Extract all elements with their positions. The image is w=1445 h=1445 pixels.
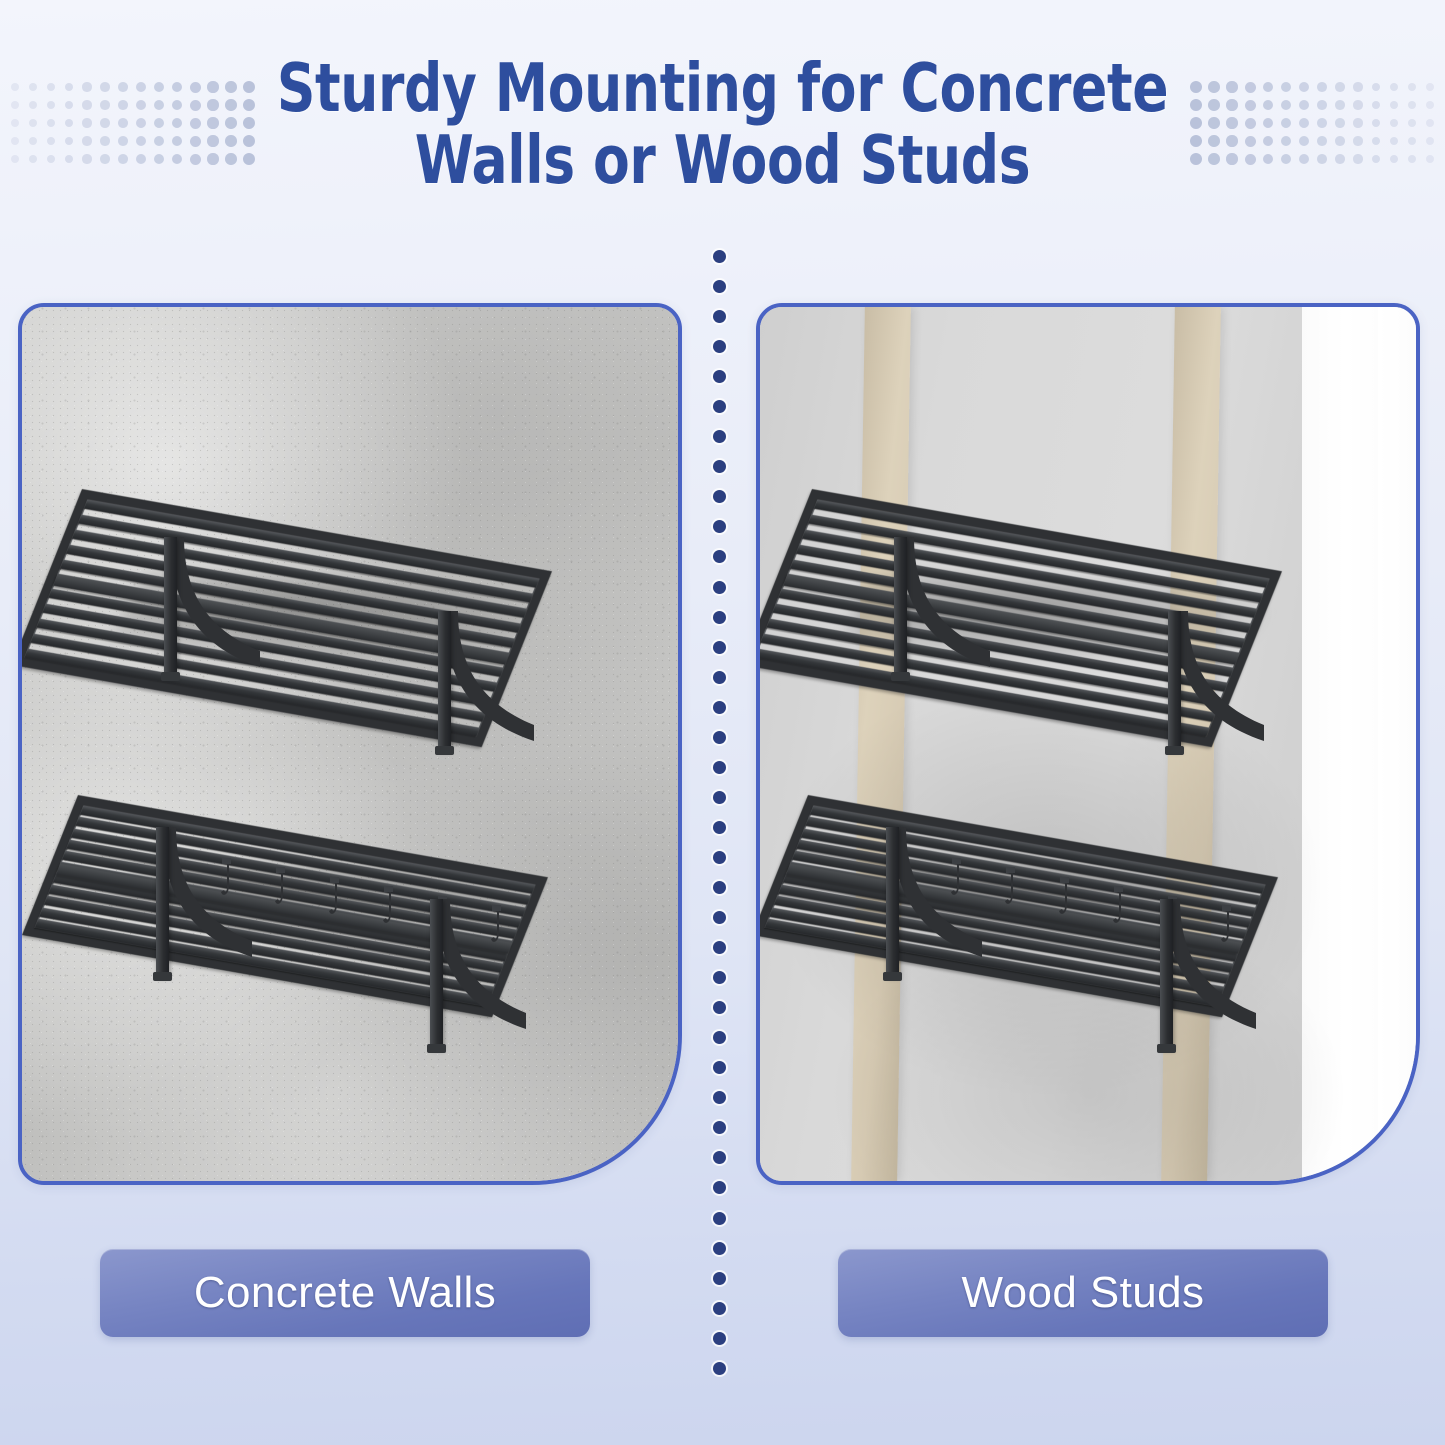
page-title: Sturdy Mounting for Concrete Walls or Wo…: [145, 52, 1301, 197]
divider-dot: [713, 400, 726, 413]
shelf-wall-leg-right: [1168, 611, 1181, 751]
divider-dot: [713, 1121, 726, 1134]
divider-dot: [713, 490, 726, 503]
shelf-wall-leg-right: [430, 899, 443, 1049]
divider-dot: [713, 731, 726, 744]
divider-dot: [713, 581, 726, 594]
divider-dot: [713, 1272, 726, 1285]
drywall-background: [760, 307, 1416, 1181]
divider-dot: [713, 430, 726, 443]
divider-dot: [713, 1332, 726, 1345]
divider-dot: [713, 761, 726, 774]
divider-dot: [713, 1181, 726, 1194]
divider-dot: [713, 941, 726, 954]
divider-dot: [713, 1091, 726, 1104]
divider-dot: [713, 701, 726, 714]
divider-dot: [713, 1362, 726, 1375]
divider-dot: [713, 310, 726, 323]
shelf-lower-studs: [808, 795, 1278, 935]
wood-stud-panel: [756, 303, 1420, 1185]
divider-dot: [713, 1212, 726, 1225]
divider-dot: [713, 1242, 726, 1255]
divider-dot: [713, 851, 726, 864]
concrete-wall-panel: [18, 303, 682, 1185]
shelf-wall-leg-right: [1160, 899, 1173, 1049]
shelf-hook: [1111, 886, 1125, 932]
divider-dot: [713, 550, 726, 563]
divider-dot: [713, 881, 726, 894]
shelf-upper-studs: [812, 489, 1282, 665]
caption-pill-wood-studs[interactable]: Wood Studs: [838, 1249, 1328, 1337]
shelf-hook: [1003, 867, 1017, 913]
vertical-dotted-divider: [713, 250, 726, 1375]
divider-dot: [713, 340, 726, 353]
shelf-wall-leg-left: [886, 827, 899, 977]
shelf-hook: [327, 877, 341, 923]
divider-dot: [713, 370, 726, 383]
divider-dot: [713, 1001, 726, 1014]
shelf-lower-concrete: [78, 795, 548, 935]
divider-dot: [713, 250, 726, 263]
divider-dot: [713, 1031, 726, 1044]
shelf-hook: [1057, 877, 1071, 923]
divider-dot: [713, 460, 726, 473]
divider-dot: [713, 1151, 726, 1164]
divider-dot: [713, 611, 726, 624]
shelf-wall-leg-left: [164, 537, 177, 677]
shelf-hook: [273, 867, 287, 913]
concrete-wall-texture: [22, 307, 678, 1181]
divider-dot: [713, 671, 726, 684]
caption-pill-concrete-walls[interactable]: Concrete Walls: [100, 1249, 590, 1337]
divider-dot: [713, 641, 726, 654]
divider-dot: [713, 1061, 726, 1074]
headline-container: Sturdy Mounting for Concrete Walls or Wo…: [0, 52, 1445, 197]
shelf-wall-leg-left: [894, 537, 907, 677]
shelf-wall-leg-right: [438, 611, 451, 751]
divider-dot: [713, 280, 726, 293]
shelf-upper-concrete: [82, 489, 552, 665]
divider-dot: [713, 791, 726, 804]
divider-dot: [713, 911, 726, 924]
divider-dot: [713, 971, 726, 984]
caption-label-wood-studs: Wood Studs: [962, 1268, 1205, 1318]
divider-dot: [713, 1302, 726, 1315]
shelf-hook: [381, 886, 395, 932]
shelf-wall-leg-left: [156, 827, 169, 977]
divider-dot: [713, 821, 726, 834]
caption-label-concrete-walls: Concrete Walls: [194, 1268, 496, 1318]
divider-dot: [713, 520, 726, 533]
